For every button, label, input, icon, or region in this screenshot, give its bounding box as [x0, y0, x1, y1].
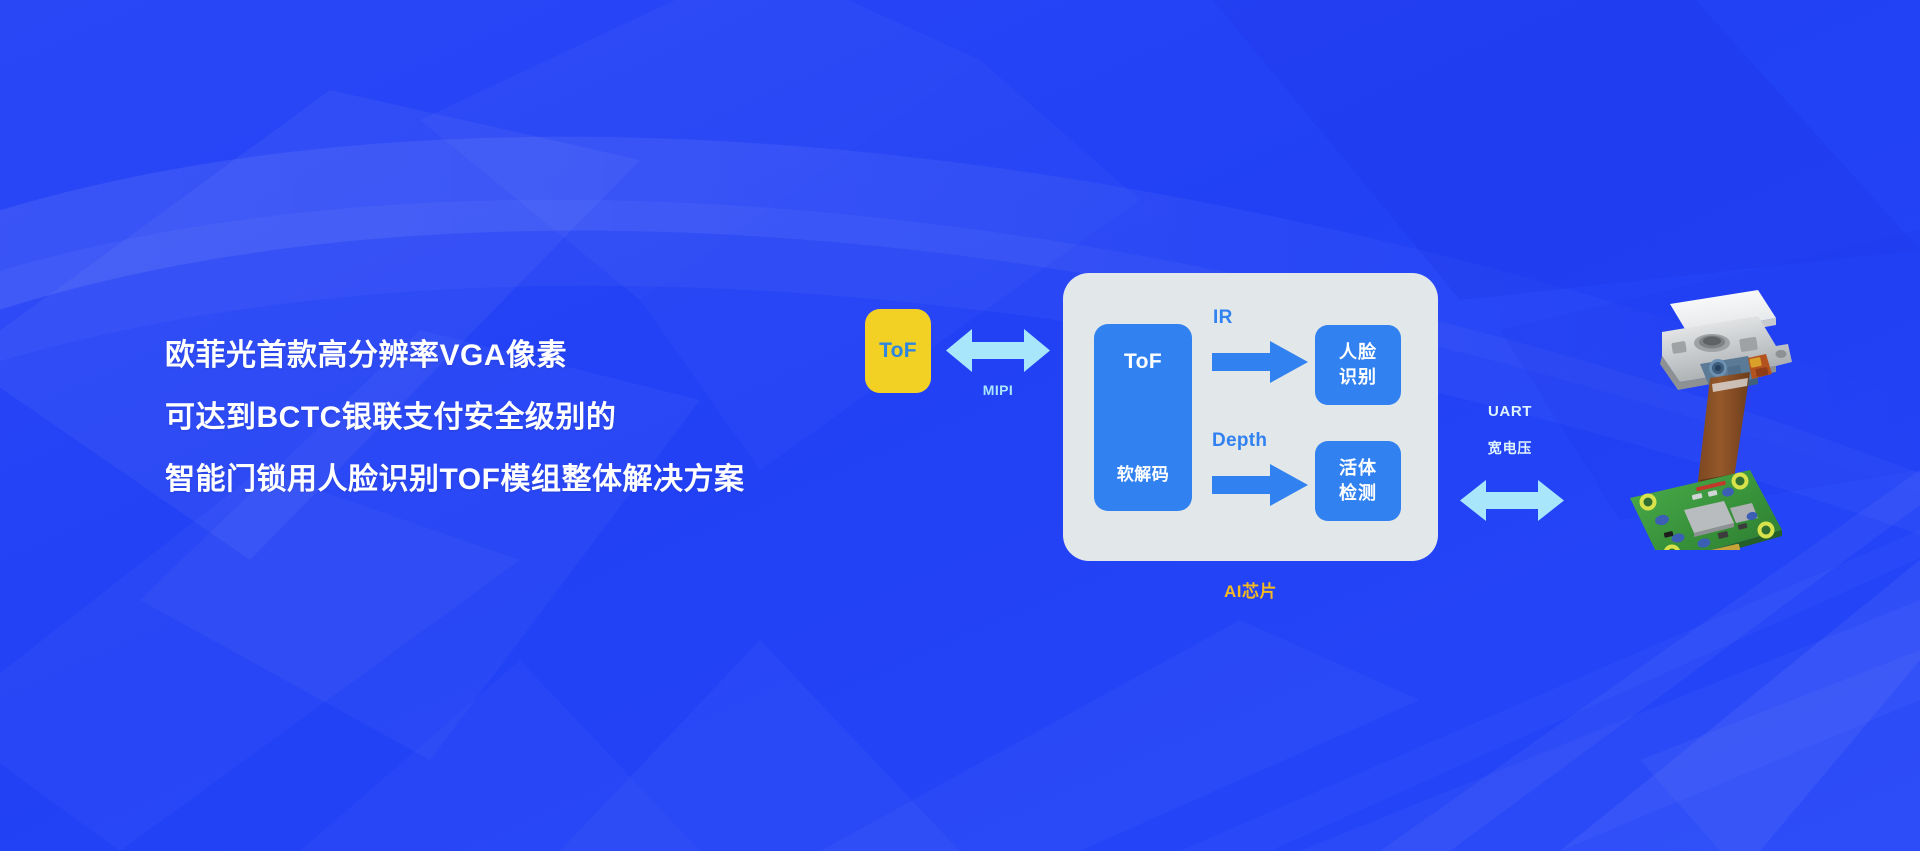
mipi-label: MIPI [946, 382, 1050, 398]
double-arrow-icon [946, 327, 1050, 374]
tof-sensor-box: ToF [865, 309, 931, 393]
headline-block: 欧菲光首款高分辨率VGA像素 可达到BCTC银联支付安全级别的 智能门锁用人脸识… [165, 325, 805, 511]
wide-voltage-label: 宽电压 [1455, 438, 1565, 458]
tof-module-render [1600, 280, 1860, 550]
face-recognition-line-2: 识别 [1339, 365, 1377, 390]
right-arrow-icon [1212, 464, 1308, 506]
tof-sensor-label: ToF [879, 339, 917, 363]
double-arrow-icon [1460, 478, 1564, 523]
tof-core-box: ToF 软解码 [1094, 324, 1192, 511]
headline-line-3: 智能门锁用人脸识别TOF模组整体解决方案 [165, 449, 805, 511]
tof-core-title: ToF [1124, 350, 1162, 374]
depth-flow-label: Depth [1212, 430, 1267, 452]
liveness-detection-box: 活体 检测 [1315, 441, 1401, 521]
liveness-detection-line-1: 活体 [1339, 456, 1377, 481]
face-recognition-line-1: 人脸 [1339, 340, 1377, 365]
ir-flow-label: IR [1213, 307, 1233, 329]
headline-line-1: 欧菲光首款高分辨率VGA像素 [165, 325, 805, 387]
uart-label: UART [1455, 403, 1565, 420]
banner-stage: 欧菲光首款高分辨率VGA像素 可达到BCTC银联支付安全级别的 智能门锁用人脸识… [0, 0, 1920, 851]
tof-core-subtitle: 软解码 [1117, 460, 1170, 485]
ai-chip-caption: AI芯片 [1063, 577, 1438, 602]
face-recognition-box: 人脸 识别 [1315, 325, 1401, 405]
liveness-detection-line-2: 检测 [1339, 481, 1377, 506]
right-arrow-icon [1212, 341, 1308, 383]
headline-line-2: 可达到BCTC银联支付安全级别的 [165, 387, 805, 449]
